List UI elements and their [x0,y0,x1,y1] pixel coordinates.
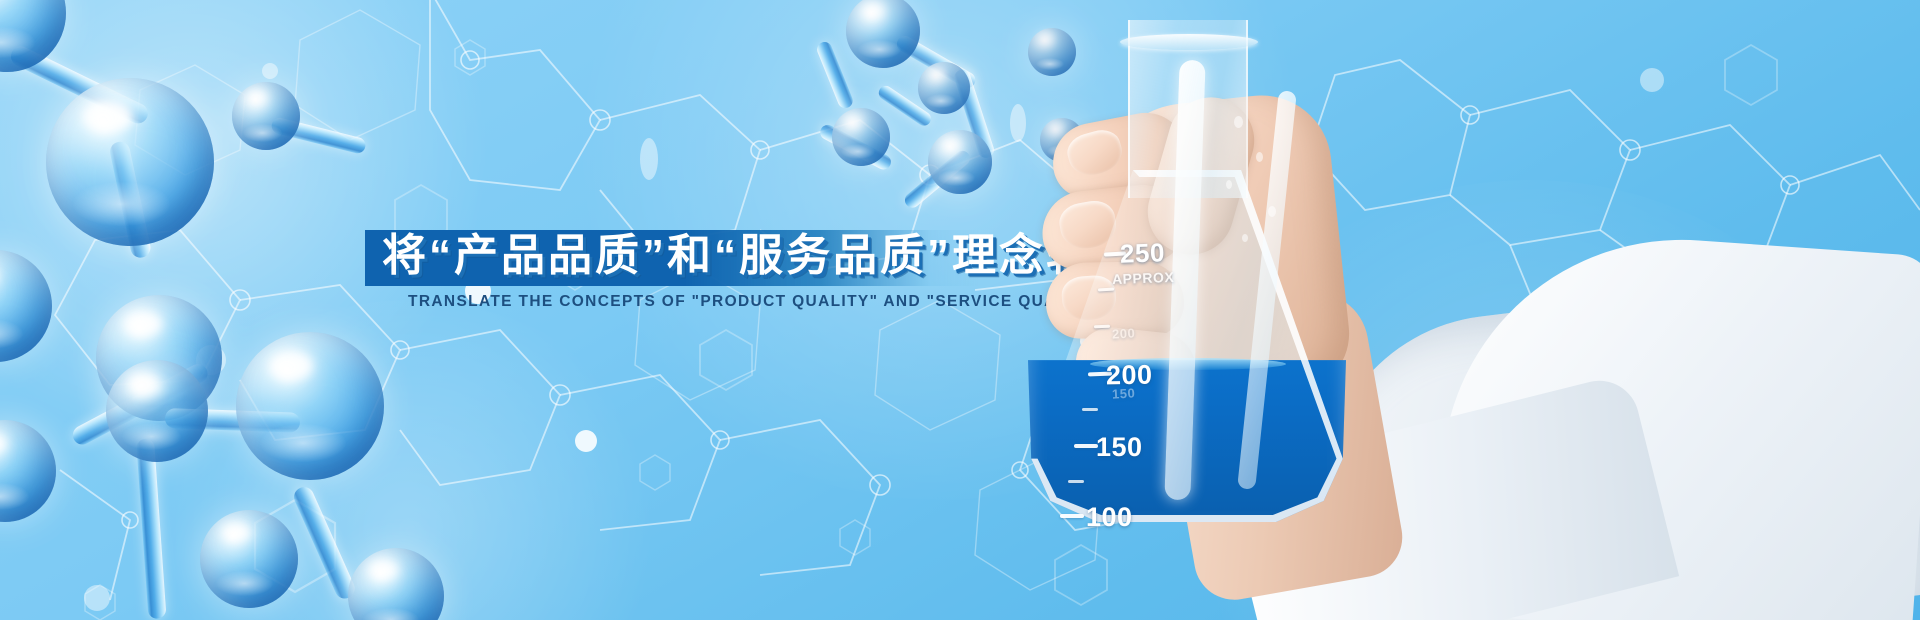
graduation-label-approx: APPROX [1112,269,1175,287]
graduation-label-ghost-200: 200 [1112,325,1136,341]
scientist-hand-with-flask: 250 APPROX 200 150 200 150 100 [990,0,1920,620]
water-droplet [1268,206,1276,217]
water-droplet [1234,116,1243,128]
graduation-tick [1068,480,1084,483]
water-droplet [1256,152,1263,162]
hero-banner: 将“产品品质”和“服务品质”理念转化成行动 TRANSLATE THE CONC… [0,0,1920,620]
erlenmeyer-flask: 250 APPROX 200 150 200 150 100 [1020,20,1350,540]
water-droplet [1242,234,1248,242]
bokeh-dot [640,138,658,180]
graduation-tick [1094,325,1110,329]
graduation-label-200: 200 [1106,360,1153,392]
graduation-tick [1082,408,1098,411]
water-droplet [1226,180,1232,189]
bokeh-dot [84,585,110,611]
flask-rim [1120,34,1258,50]
bokeh-dot [575,430,597,452]
graduation-label-100: 100 [1086,502,1133,533]
graduation-tick [1074,444,1098,448]
bokeh-dot [262,63,278,79]
graduation-label-250: 250 [1119,237,1165,270]
graduation-label-150: 150 [1096,432,1143,463]
graduation-tick [1060,514,1084,518]
